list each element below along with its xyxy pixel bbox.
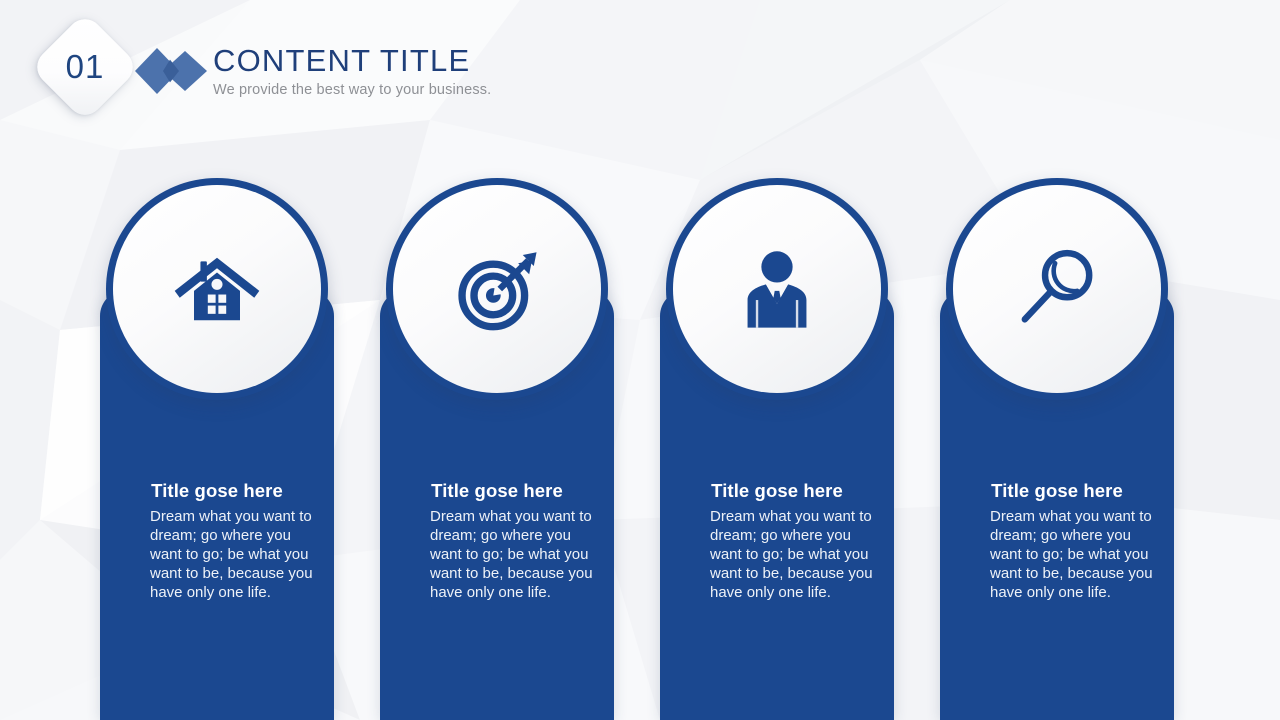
card-body-text: Dream what you want to dream; go where y… [430,508,596,602]
feature-card-3[interactable]: Title gose here Dream what you want to d… [660,290,894,720]
page-subtitle: We provide the best way to your business… [213,82,491,98]
card-icon-circle [106,178,328,400]
card-icon-circle-inner [953,185,1161,393]
feature-card-4[interactable]: Title gose here Dream what you want to d… [940,290,1174,720]
feature-card-2[interactable]: Title gose here Dream what you want to d… [380,290,614,720]
magnifier-icon [1011,243,1103,335]
card-body-text: Dream what you want to dream; go where y… [990,508,1156,602]
feature-card-1[interactable]: Title gose here Dream what you want to d… [100,290,334,720]
card-title: Title gose here [660,480,894,502]
card-icon-circle-inner [393,185,601,393]
double-diamond-logo-icon [135,46,207,96]
card-body-text: Dream what you want to dream; go where y… [710,508,876,602]
slide-header: 01 CONTENT TITLE We provide the best way… [0,0,1280,140]
header-title-block: CONTENT TITLE We provide the best way to… [213,44,491,98]
card-icon-circle [386,178,608,400]
house-icon [171,243,263,335]
card-body-text: Dream what you want to dream; go where y… [150,508,316,602]
businessman-icon [731,243,823,335]
section-number-label: 01 [46,28,124,106]
card-icon-circle [946,178,1168,400]
card-title: Title gose here [100,480,334,502]
card-icon-circle-inner [673,185,881,393]
page-title: CONTENT TITLE [213,44,491,77]
slide-canvas: 01 CONTENT TITLE We provide the best way… [0,0,1280,720]
card-title: Title gose here [940,480,1174,502]
card-title: Title gose here [380,480,614,502]
card-icon-circle [666,178,888,400]
target-arrow-icon [451,243,543,335]
card-icon-circle-inner [113,185,321,393]
